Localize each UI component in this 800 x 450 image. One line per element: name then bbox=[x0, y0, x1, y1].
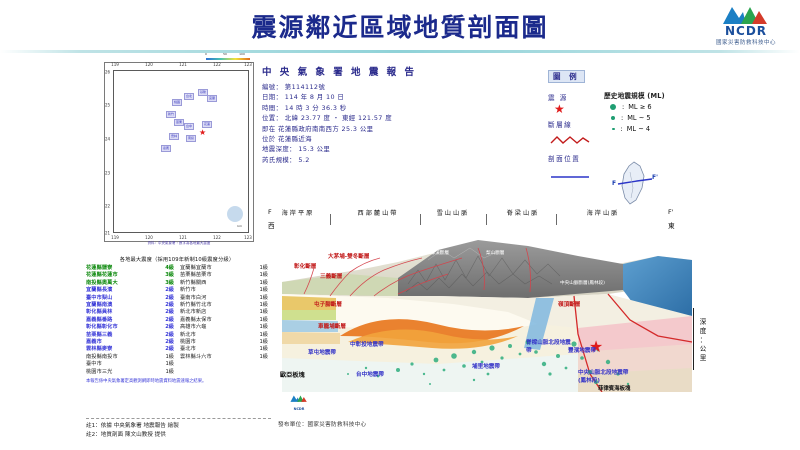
report-id: 編號： 第114112號 bbox=[262, 82, 452, 92]
report-location: 位置： 北緯 23.77 度 ・ 東經 121.57 度 bbox=[262, 113, 452, 123]
legend-magnitude-title: 歷史地震規模 (ML) bbox=[604, 90, 700, 100]
table-row: 花蓮縣花蓮市3級 bbox=[86, 272, 174, 279]
report-depth: 地震深度： 15.3 公里 bbox=[262, 144, 452, 154]
ncdr-logo: NCDR 國家災害防救科技中心 bbox=[700, 4, 792, 50]
table-row: 雲林縣麥寮2級 bbox=[86, 346, 174, 353]
intensity-table-note: 本報告係中央氣象署定高觀測網即時地震資料地震速報之結果。 bbox=[86, 379, 268, 385]
table-row: 彰化縣彰化市2級 bbox=[86, 324, 174, 331]
block-diagram: ★ 彰化斷層 大茅埔-雙冬斷層 三義斷層 屯子腳斷層 車籠埔斷層 本鄉溪斷層 梨… bbox=[278, 224, 698, 392]
fault-label: 中央山脈斷層(鳳林段) bbox=[560, 280, 605, 288]
ncdr-watermark: NCDR bbox=[288, 388, 310, 406]
table-row: 臺南市白河1級 bbox=[180, 295, 268, 302]
report-area: 位於 花蓮縣近海 bbox=[262, 134, 452, 144]
magnitude-dot-icon bbox=[612, 128, 615, 131]
intensity-column-right: 宜蘭縣宜蘭市1級 苗栗縣苗栗市1級 新竹縣關西1級 新竹市1級 臺南市白河1級 … bbox=[180, 265, 268, 376]
table-row: 臺北市1級 bbox=[180, 346, 268, 353]
table-row: 臺中市1級 bbox=[86, 361, 174, 368]
map-agency-badge bbox=[227, 206, 243, 222]
map-caption: 資料：中央氣象署・數字為各地最大震度 bbox=[104, 240, 254, 245]
zigzag-line-icon bbox=[550, 130, 604, 149]
report-time: 時間： 14 時 3 分 36.3 秒 bbox=[262, 103, 452, 113]
plate-label: 歐亞板塊 bbox=[280, 372, 305, 380]
map-city-tag: 苗栗 bbox=[174, 119, 184, 126]
province-label: 海岸平原 bbox=[282, 208, 315, 217]
map-colorbar: 0 50 100 bbox=[206, 55, 250, 61]
page-title: 震源鄰近區域地質剖面圖 bbox=[0, 8, 800, 44]
intensity-column-left: 花蓮縣鹽寮4級 花蓮縣花蓮市3級 南投縣奧萬大3級 宜蘭縣長濱2級 臺中市梨山2… bbox=[86, 265, 174, 376]
ncdr-mark-icon bbox=[719, 4, 773, 26]
map-city-tag: 南投 bbox=[186, 135, 196, 142]
seismic-zone-label: 埔里地震帶 bbox=[472, 364, 500, 372]
geological-cross-section: F 西 F' 東 海岸平原 西部麓山帶 雪山山脈 脊梁山脈 海岸山脈 bbox=[268, 200, 708, 422]
table-row: 苗栗縣三義2級 bbox=[86, 332, 174, 339]
legend-title: 圖 例 bbox=[548, 70, 585, 83]
fault-label: 屯子腳斷層 bbox=[314, 302, 342, 310]
seismic-zone-label: 脊樑山脈北段地震帶 bbox=[526, 340, 574, 355]
province-label: 西部麓山帶 bbox=[358, 208, 399, 217]
taiwan-intensity-map: 119 120 121 122 123 0 50 100 26 25 24 23… bbox=[104, 62, 254, 242]
fault-label: 彰化斷層 bbox=[294, 264, 316, 272]
table-row: 苗栗縣苗栗市1級 bbox=[180, 272, 268, 279]
table-row: 桃園市三光1級 bbox=[86, 369, 174, 376]
intensity-table: 各地最大震度（採用109年新制10級震度分級） 花蓮縣鹽寮4級 花蓮縣花蓮市3級… bbox=[86, 256, 268, 385]
map-city-tag: 桃園 bbox=[172, 99, 182, 106]
depth-axis-label: 深度：公里 bbox=[696, 318, 710, 363]
legend-magnitude-label: ML ~ 5 bbox=[627, 114, 650, 122]
table-row: 雲林縣斗六市1級 bbox=[180, 354, 268, 361]
ncdr-mark-icon-small bbox=[289, 394, 309, 403]
map-city-tag: 花蓮 bbox=[202, 121, 212, 128]
ncdr-subtitle: 國家災害防救科技中心 bbox=[700, 38, 792, 46]
province-label: 海岸山脈 bbox=[587, 208, 620, 217]
poster-root: 震源鄰近區域地質剖面圖 NCDR 國家災害防救科技中心 119 120 121 … bbox=[0, 0, 800, 450]
legend-magnitude-row: : ML ~ 4 bbox=[604, 125, 700, 133]
magnitude-dot-icon bbox=[611, 116, 615, 120]
magnitude-dot-icon bbox=[610, 104, 616, 110]
map-city-tag: 雲林 bbox=[169, 133, 179, 140]
seismic-zone-label: 中彰投地震帶 bbox=[350, 342, 384, 350]
locator-f-start: F bbox=[612, 180, 616, 187]
table-row: 高雄市六龜1級 bbox=[180, 324, 268, 331]
fault-label: 嶺頂斷層 bbox=[558, 302, 580, 310]
depth-axis-line bbox=[693, 308, 694, 370]
legend-section-label: 剖面位置 bbox=[548, 153, 604, 163]
map-epicenter-star-icon: ★ bbox=[199, 129, 206, 137]
ncdr-watermark-text: NCDR bbox=[288, 407, 310, 411]
legend-magnitude-label: ML ~ 4 bbox=[627, 125, 650, 133]
table-row: 臺中市梨山2級 bbox=[86, 295, 174, 302]
section-west-mark: 西 bbox=[268, 220, 275, 230]
publisher-line: 發布單位：國家災害防救科技中心 bbox=[278, 420, 366, 428]
map-city-tag: 台北 bbox=[184, 93, 194, 100]
map-city-tag: 嘉義 bbox=[161, 145, 171, 152]
locator-f-end: F' bbox=[652, 174, 658, 181]
province-label: 脊梁山脈 bbox=[507, 208, 540, 217]
legend-epicenter-label: 震 源 bbox=[548, 92, 604, 102]
map-city-tag: 宜蘭 bbox=[207, 95, 217, 102]
fault-label-faint: 本鄉溪斷層 bbox=[426, 250, 449, 258]
fault-label: 三義斷層 bbox=[320, 274, 342, 282]
ncdr-wordmark: NCDR bbox=[700, 26, 792, 37]
map-canvas: 台北 基隆 宜蘭 桃園 新竹 苗栗 台中 花蓮 雲林 嘉義 南投 ★ km bbox=[113, 70, 249, 233]
map-scale-label: km bbox=[237, 224, 242, 228]
report-relative-location: 即在 花蓮縣政府南南西方 25.3 公里 bbox=[262, 124, 452, 134]
legend-fault-label: 斷層線 bbox=[548, 119, 604, 129]
table-row: 新北市1級 bbox=[180, 332, 268, 339]
table-row: 新北市新店1級 bbox=[180, 309, 268, 316]
legend-magnitude-label: ML ≥ 6 bbox=[628, 103, 651, 111]
footnote-2: 註2：地質剖面 陳文山教授 提供 bbox=[86, 431, 271, 440]
star-icon: ★ bbox=[554, 103, 604, 115]
legend-magnitude-row: : ML ~ 5 bbox=[604, 114, 700, 122]
report-date: 日期： 114 年 8 月 10 日 bbox=[262, 92, 452, 102]
seismic-zone-label: 草屯地震帶 bbox=[308, 350, 336, 358]
fault-label: 大茅埔-雙冬斷層 bbox=[328, 254, 369, 262]
report-title: 中 央 氣 象 署 地 震 報 告 bbox=[262, 64, 452, 78]
seismic-zone-label: 豐濱地震帶 bbox=[568, 348, 596, 356]
physiographic-provinces: 海岸平原 西部麓山帶 雪山山脈 脊梁山脈 海岸山脈 bbox=[268, 208, 680, 220]
earthquake-report: 中 央 氣 象 署 地 震 報 告 編號： 第114112號 日期： 114 年… bbox=[262, 64, 452, 165]
seismic-zone-label: 中央山脈北段地震帶(鳳林段) bbox=[578, 370, 632, 385]
page-header: 震源鄰近區域地質剖面圖 NCDR 國家災害防救科技中心 bbox=[0, 0, 800, 52]
report-magnitude: 芮氏規模： 5.2 bbox=[262, 155, 452, 165]
province-label: 雪山山脈 bbox=[437, 208, 470, 217]
footnotes: 註1：依據 中央氣象署 地震報告 繪製 註2：地質剖面 陳文山教授 提供 bbox=[86, 418, 271, 440]
map-city-tag: 台中 bbox=[184, 123, 194, 130]
legend-magnitude-row: : ML ≥ 6 bbox=[604, 103, 700, 111]
fault-label-faint: 梨山斷層 bbox=[486, 250, 504, 258]
intensity-table-title: 各地最大震度（採用109年新制10級震度分級） bbox=[86, 256, 268, 263]
straight-line-icon bbox=[550, 165, 604, 184]
plate-label: 菲律賓海板塊 bbox=[598, 386, 630, 394]
table-row: 宜蘭縣長濱2級 bbox=[86, 287, 174, 294]
map-city-tag: 新竹 bbox=[166, 111, 176, 118]
header-divider bbox=[0, 50, 800, 53]
table-row: 彰化縣員林2級 bbox=[86, 309, 174, 316]
table-row: 新竹市1級 bbox=[180, 287, 268, 294]
footnote-1: 註1：依據 中央氣象署 地震報告 繪製 bbox=[86, 422, 271, 431]
fault-label: 車籠埔斷層 bbox=[318, 324, 346, 332]
seismic-zone-label: 台中地震帶 bbox=[356, 372, 384, 380]
